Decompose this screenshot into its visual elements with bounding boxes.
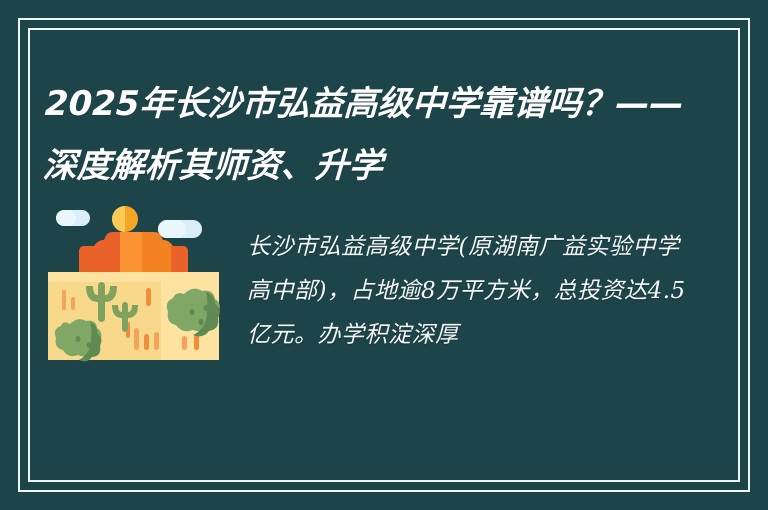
desert-scene-svg bbox=[46, 202, 221, 362]
poster-canvas: 2025年长沙市弘益高级中学靠谱吗？——深度解析其师资、升学 bbox=[0, 0, 768, 510]
sun-icon bbox=[112, 206, 138, 232]
mesa-rock-shape bbox=[79, 232, 188, 274]
body-row: 长沙市弘益高级中学(原湖南广益实验中学高中部)，占地逾8万平方米，总投资达4.5… bbox=[46, 202, 722, 380]
cloud-left-icon bbox=[56, 210, 90, 226]
desert-landscape-illustration bbox=[46, 202, 221, 362]
page-title: 2025年长沙市弘益高级中学靠谱吗？——深度解析其师资、升学 bbox=[42, 73, 706, 197]
poster-content: 2025年长沙市弘益高级中学靠谱吗？——深度解析其师资、升学 bbox=[46, 50, 722, 464]
cloud-right-icon bbox=[158, 220, 202, 238]
body-paragraph: 长沙市弘益高级中学(原湖南广益实验中学高中部)，占地逾8万平方米，总投资达4.5… bbox=[247, 225, 699, 357]
